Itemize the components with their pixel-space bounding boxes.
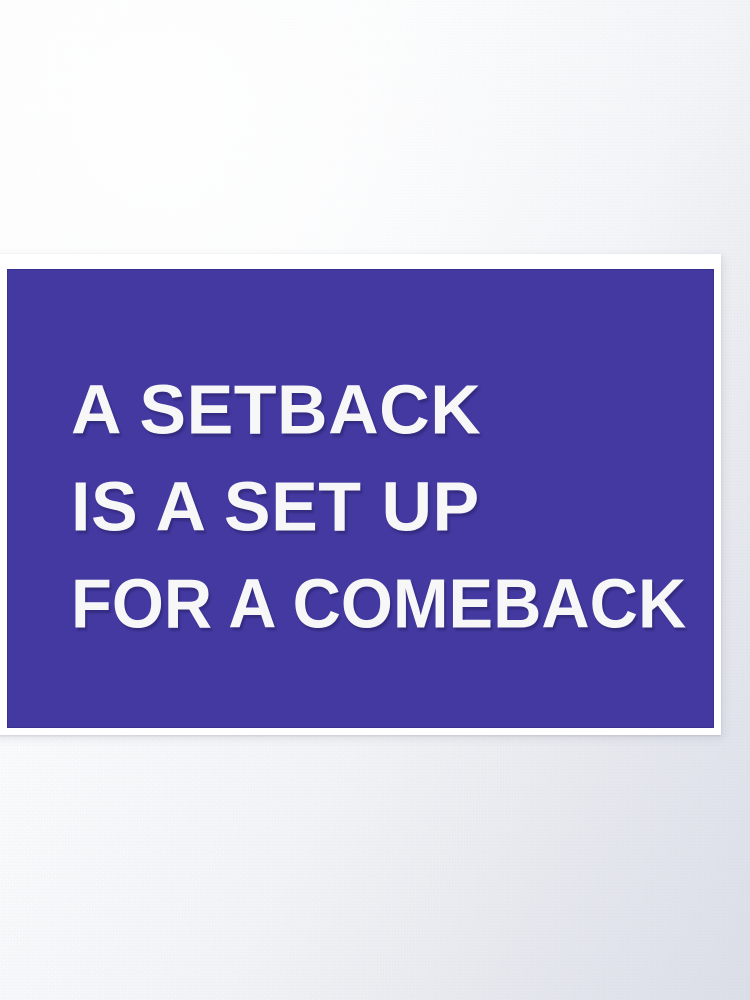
poster-artwork: A SETBACK IS A SET UP FOR A COMEBACK [7,269,714,728]
quote-line-2: IS A SET UP [71,458,715,555]
poster-scene: A SETBACK IS A SET UP FOR A COMEBACK [0,0,750,1000]
quote-line-1: A SETBACK [71,361,715,458]
poster: A SETBACK IS A SET UP FOR A COMEBACK [0,254,721,735]
quote-block: A SETBACK IS A SET UP FOR A COMEBACK [71,361,715,652]
quote-line-3: FOR A COMEBACK [71,555,686,652]
